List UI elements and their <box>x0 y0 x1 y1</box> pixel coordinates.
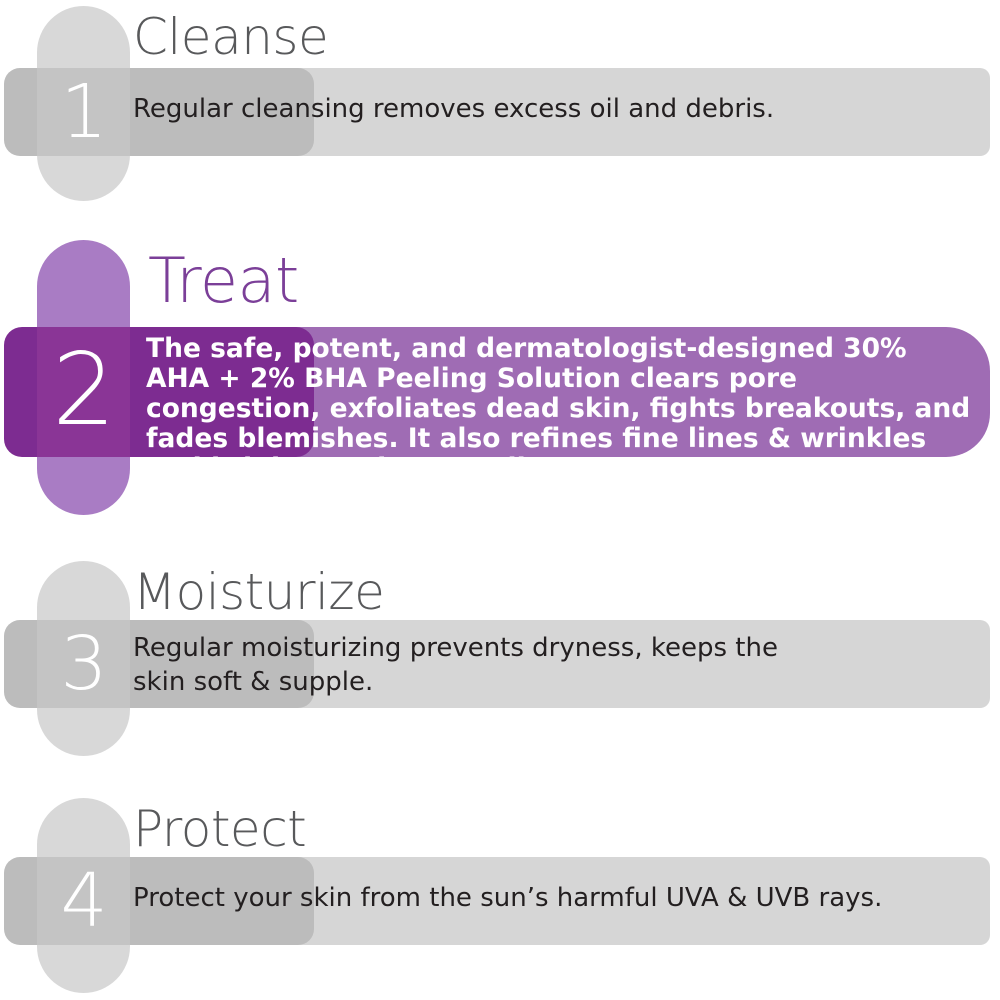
step-number-3: 3 <box>37 627 130 701</box>
step-body-1: Regular cleansing removes excess oil and… <box>133 92 983 126</box>
step-number-2: 2 <box>37 340 130 440</box>
step-item-3[interactable]: 3 Moisturize Regular moisturizing preven… <box>0 555 1000 785</box>
step-heading-2: Treat <box>148 250 299 312</box>
step-heading-1: Cleanse <box>133 12 328 62</box>
steps-infographic: 1 Cleanse Regular cleansing removes exce… <box>0 0 1000 1000</box>
step-number-4: 4 <box>37 864 130 938</box>
step-body-4: Protect your skin from the sun’s harmful… <box>133 881 983 915</box>
step-body-2: The safe, potent, and dermatologist-desi… <box>146 334 976 484</box>
step-heading-4: Protect <box>133 804 306 854</box>
step-number-1: 1 <box>37 75 130 149</box>
step-body-3: Regular moisturizing prevents dryness, k… <box>133 631 983 699</box>
step-item-1[interactable]: 1 Cleanse Regular cleansing removes exce… <box>0 0 1000 230</box>
step-item-4[interactable]: 4 Protect Protect your skin from the sun… <box>0 792 1000 1000</box>
step-item-2[interactable]: 2 Treat The safe, potent, and dermatolog… <box>0 240 1000 520</box>
step-heading-3: Moisturize <box>133 567 384 617</box>
